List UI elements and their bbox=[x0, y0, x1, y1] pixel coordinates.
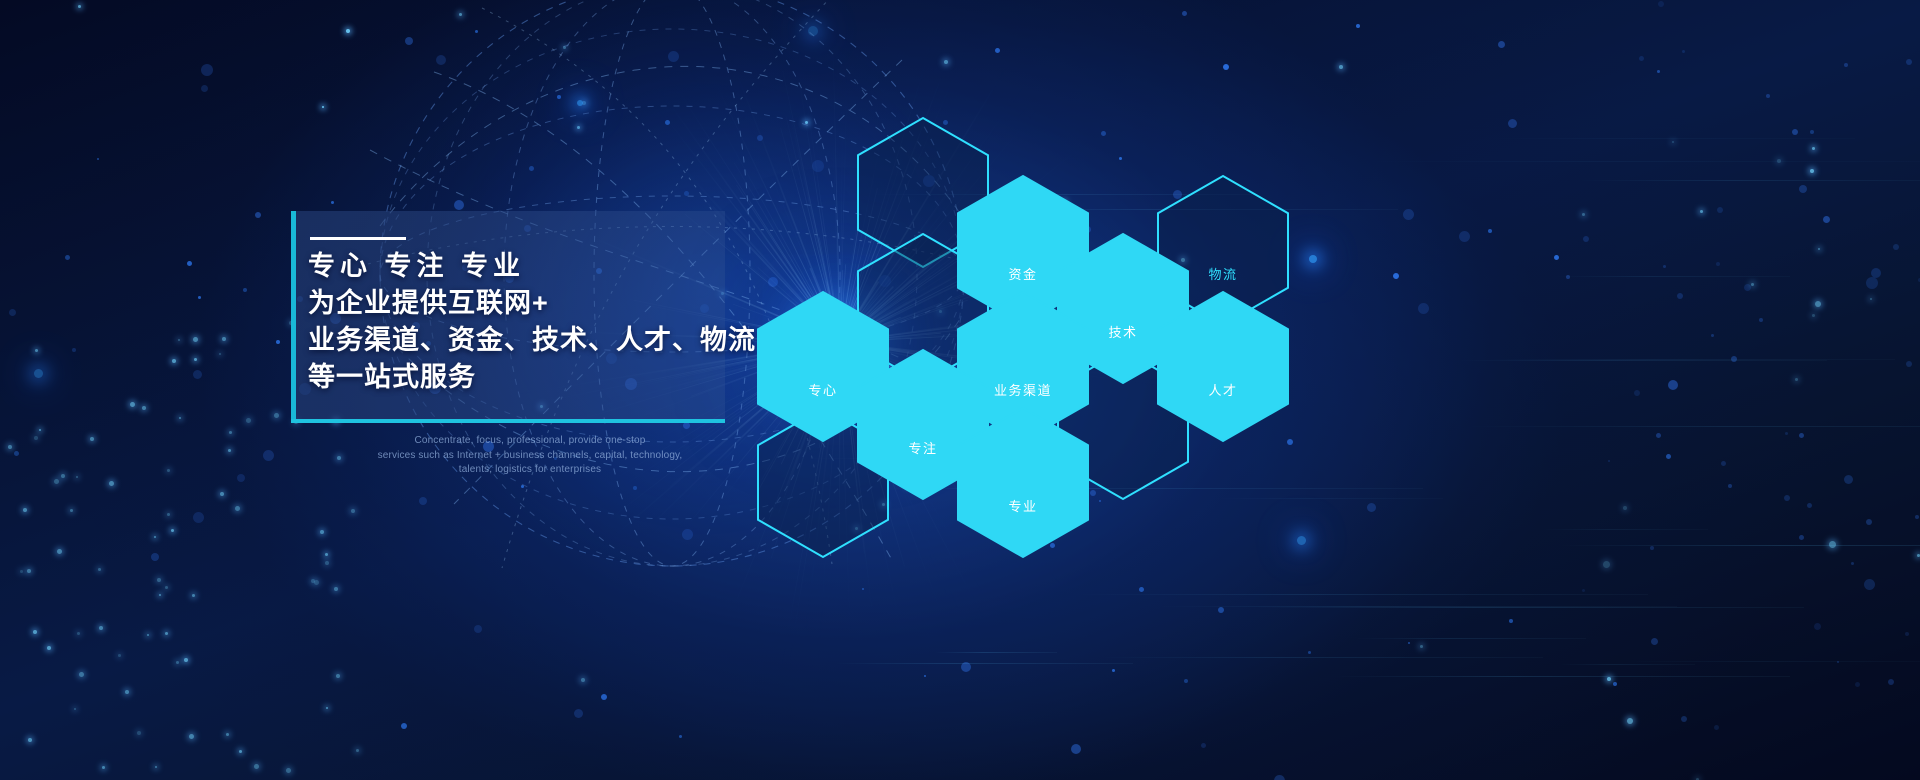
hex-talent[interactable]: 人才 bbox=[1155, 290, 1291, 443]
hex-pro[interactable]: 专业 bbox=[955, 406, 1091, 559]
hero-banner: 专心 专注 专业 为企业提供互联网+ 业务渠道、资金、技术、人才、物流 等一站式… bbox=[0, 0, 1920, 780]
hexagon-cluster: 资金 技术 物流 专心 业务渠道 人才 专注 bbox=[0, 0, 1920, 780]
